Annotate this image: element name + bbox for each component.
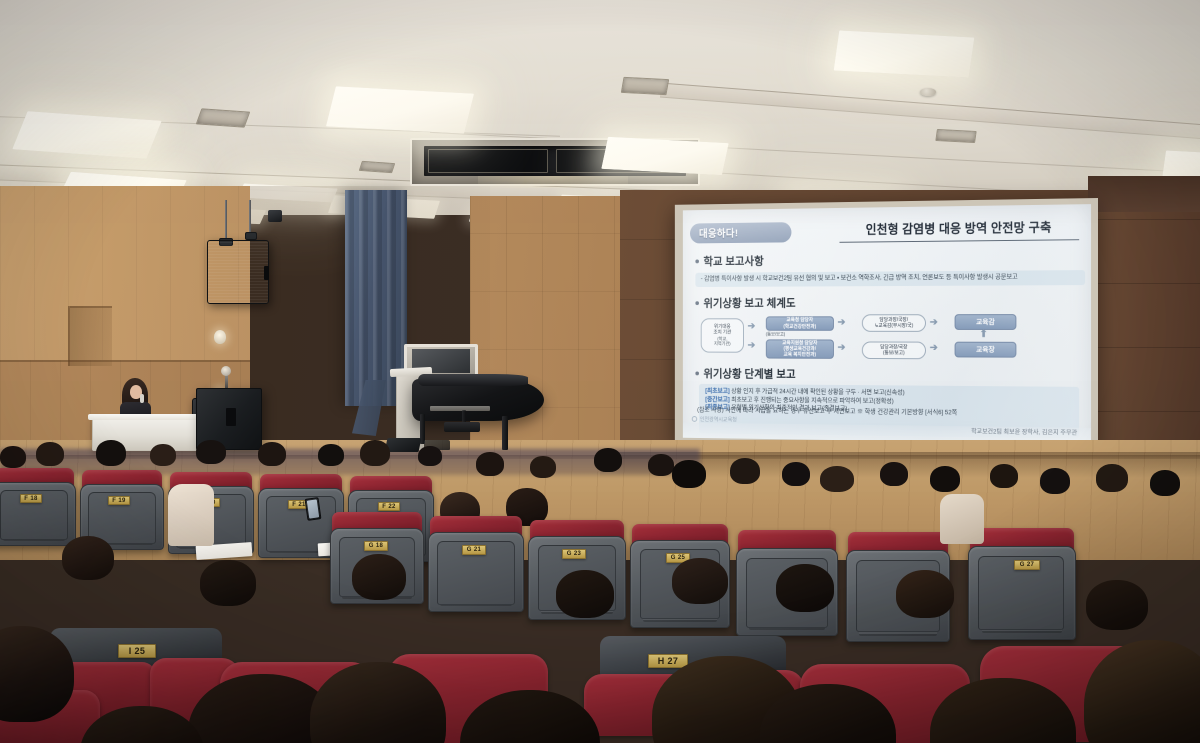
flow-arrow-icon: ➔ bbox=[930, 318, 938, 328]
audience-head bbox=[96, 440, 126, 466]
slide-bullet-label: 위기상황 보고 체계도 bbox=[703, 295, 795, 311]
projector-glow bbox=[478, 176, 628, 188]
wall-recess-niche bbox=[68, 306, 112, 366]
audience-head bbox=[930, 466, 960, 492]
flow-node-edu-director: 교육장 bbox=[955, 342, 1017, 358]
audience-head bbox=[418, 446, 442, 466]
seat-g21[interactable]: G 21 bbox=[428, 516, 526, 612]
audience-head bbox=[648, 454, 674, 476]
ceiling-light-panel bbox=[326, 86, 474, 133]
seat-number-plate: F 18 bbox=[20, 494, 42, 503]
audience-head bbox=[730, 458, 760, 484]
flow-node-director-2: 담당과장/국장 (통보/보고) bbox=[862, 341, 926, 359]
bullet-dot-icon bbox=[695, 372, 699, 376]
seat-number-plate: G 27 bbox=[1014, 560, 1040, 570]
microphone-head-icon bbox=[221, 366, 231, 376]
wall-right-dark-wood bbox=[1088, 176, 1200, 476]
slide-org-logo: 인천광역시교육청 bbox=[692, 415, 737, 423]
slide-bullet-school-report: 학교 보고사항 bbox=[695, 253, 763, 269]
audience-head bbox=[776, 564, 834, 612]
flow-node-director-1: 담당과장/국장/ ↳교육감(부시장/국) bbox=[862, 314, 926, 332]
bullet-dot-icon bbox=[695, 301, 699, 305]
projector-unit-left bbox=[428, 149, 548, 173]
speaker-bracket bbox=[245, 232, 257, 240]
seat-f18[interactable]: F 18 bbox=[0, 468, 78, 546]
seat-number-plate: G 18 bbox=[364, 541, 388, 551]
audience-head bbox=[318, 444, 344, 466]
flow-arrow-icon: ➔ bbox=[748, 322, 756, 332]
ceiling-vent bbox=[621, 77, 669, 95]
stage-report-text: 상황 인지 후 가급적 24시간 내에 확인된 상황을 구두 · 서면 보고(신… bbox=[731, 388, 904, 396]
wall-spotlight-fixture bbox=[268, 210, 282, 222]
flow-origin-line4: 지역기관) bbox=[714, 341, 731, 347]
seat-number-plate: G 23 bbox=[562, 549, 586, 559]
audience-head bbox=[476, 452, 504, 476]
audience-head bbox=[36, 442, 64, 466]
audience-head bbox=[990, 464, 1018, 488]
audience-head bbox=[672, 558, 728, 604]
slide-bullet-stage-reports: 위기상황 단계별 보고 bbox=[695, 366, 795, 382]
projection-screen: 대응하다! 인천형 감염병 대응 방역 안전망 구축 학교 보고사항 - 감염병… bbox=[675, 198, 1098, 452]
audience-head bbox=[1040, 468, 1070, 494]
audience-head bbox=[1096, 464, 1128, 492]
slide-note-top-text: - 감염병 특이사항 발생 시 학교보건2팀 유선 협의 및 보고 ▪ 보건소 … bbox=[701, 274, 1018, 283]
audience-head bbox=[672, 460, 706, 488]
stage-report-tag: [최초보고] bbox=[705, 388, 729, 395]
audience-head bbox=[880, 462, 908, 486]
audience-head bbox=[0, 446, 26, 468]
audience-head bbox=[594, 448, 622, 472]
flow-node-superintendent: 교육감 bbox=[955, 314, 1017, 330]
ceiling-vent bbox=[196, 108, 251, 127]
speaker-hanger-cable bbox=[249, 200, 251, 236]
audience-head bbox=[258, 442, 286, 466]
slide-bullet-label: 학교 보고사항 bbox=[703, 253, 763, 269]
speaker-hanger-cable bbox=[225, 200, 227, 242]
audience-head bbox=[820, 466, 854, 492]
speaker-port-left bbox=[264, 266, 269, 280]
piano-bench bbox=[444, 422, 480, 432]
seat-number-plate: F 22 bbox=[378, 502, 400, 511]
presenter-microphone bbox=[140, 394, 144, 403]
seat-g27[interactable]: G 27 bbox=[968, 528, 1078, 640]
audience-head bbox=[352, 554, 406, 600]
slide-bullet-label: 위기상황 단계별 보고 bbox=[703, 366, 795, 382]
audience-seating: F 18 F 19 F 20 F 21 F 22 bbox=[0, 440, 1200, 743]
grand-piano-keys bbox=[430, 406, 490, 411]
flow-arrow-icon: ➔ bbox=[748, 341, 756, 351]
audience-head bbox=[782, 462, 810, 486]
wall-right-dark-upper bbox=[1088, 176, 1200, 212]
audience-head bbox=[1150, 470, 1180, 496]
audience-head bbox=[200, 560, 256, 606]
slide-content: 대응하다! 인천형 감염병 대응 방역 안전망 구축 학교 보고사항 - 감염병… bbox=[683, 204, 1091, 444]
flow-arrow-icon: ➔ bbox=[838, 343, 846, 353]
seat-number-plate: F 19 bbox=[108, 496, 130, 505]
audience-head bbox=[150, 444, 176, 466]
audience-head bbox=[530, 456, 556, 478]
bullet-dot-icon bbox=[695, 259, 699, 263]
seat-number-plate: G 21 bbox=[462, 545, 486, 555]
wall-sconce-light bbox=[214, 330, 226, 344]
slide-section-tab: 대응하다! bbox=[690, 222, 791, 243]
slide-org-logo-text: 인천광역시교육청 bbox=[700, 415, 737, 423]
smoke-detector-icon bbox=[920, 88, 936, 96]
flow-node-origin: 위기대응 조치 기관 (학교, 지역기관) bbox=[701, 318, 744, 352]
flow-node-support-office: 교육지원청 담당자 (평생교육건강과/ 교육 복지안전과) bbox=[766, 339, 834, 358]
flow-arrow-icon: ➔ bbox=[838, 318, 846, 328]
stage-report-text: 최초보고 후 진행되는 중요사항을 지속적으로 파악하여 보고(정확성) bbox=[731, 396, 893, 404]
slide-bullet-report-flow: 위기상황 보고 체계도 bbox=[695, 295, 795, 311]
ceiling-light-panel bbox=[601, 137, 728, 175]
audience-head bbox=[360, 440, 390, 466]
audience-head bbox=[196, 440, 226, 464]
slide-flow-diagram: 위기대응 조치 기관 (학교, 지역기관) ➔ ➔ 교육청 담당자 (학교건강안… bbox=[701, 312, 1083, 364]
audience-head bbox=[896, 570, 954, 618]
audience-head bbox=[556, 570, 614, 618]
seat-number-plate: I 25 bbox=[118, 644, 156, 658]
auditorium-photo: 대응하다! 인천형 감염병 대응 방역 안전망 구축 학교 보고사항 - 감염병… bbox=[0, 0, 1200, 743]
audience-head bbox=[1086, 580, 1148, 630]
logo-mark-icon bbox=[692, 416, 697, 422]
flow-arrow-icon: ➔ bbox=[930, 344, 938, 354]
ceiling-vent bbox=[935, 129, 976, 143]
slide-credit: 학교보건2팀 최보윤 장학사, 김은지 주무관 bbox=[971, 426, 1077, 436]
wall-speaker-left bbox=[207, 240, 269, 304]
flow-caption-notify: (통보/보고) bbox=[766, 332, 785, 338]
flow-node-edu-office: 교육청 담당자 (학교건강안전과) bbox=[766, 316, 834, 330]
slide-title: 인천형 감염병 대응 방역 안전망 구축 bbox=[839, 216, 1079, 243]
audience-jacket bbox=[940, 494, 984, 544]
audience-jacket bbox=[168, 484, 214, 546]
stage-report-tag: [중간보고] bbox=[705, 396, 729, 403]
audience-head bbox=[62, 536, 114, 580]
ceiling-light-panel bbox=[834, 30, 975, 77]
pa-speaker-port bbox=[226, 408, 236, 426]
slide-note-top: - 감염병 특이사항 발생 시 학교보건2팀 유선 협의 및 보고 ▪ 보건소 … bbox=[695, 270, 1085, 287]
flow-arrow-up-icon: ⬆ bbox=[980, 330, 988, 340]
grand-piano-lid bbox=[418, 374, 528, 386]
